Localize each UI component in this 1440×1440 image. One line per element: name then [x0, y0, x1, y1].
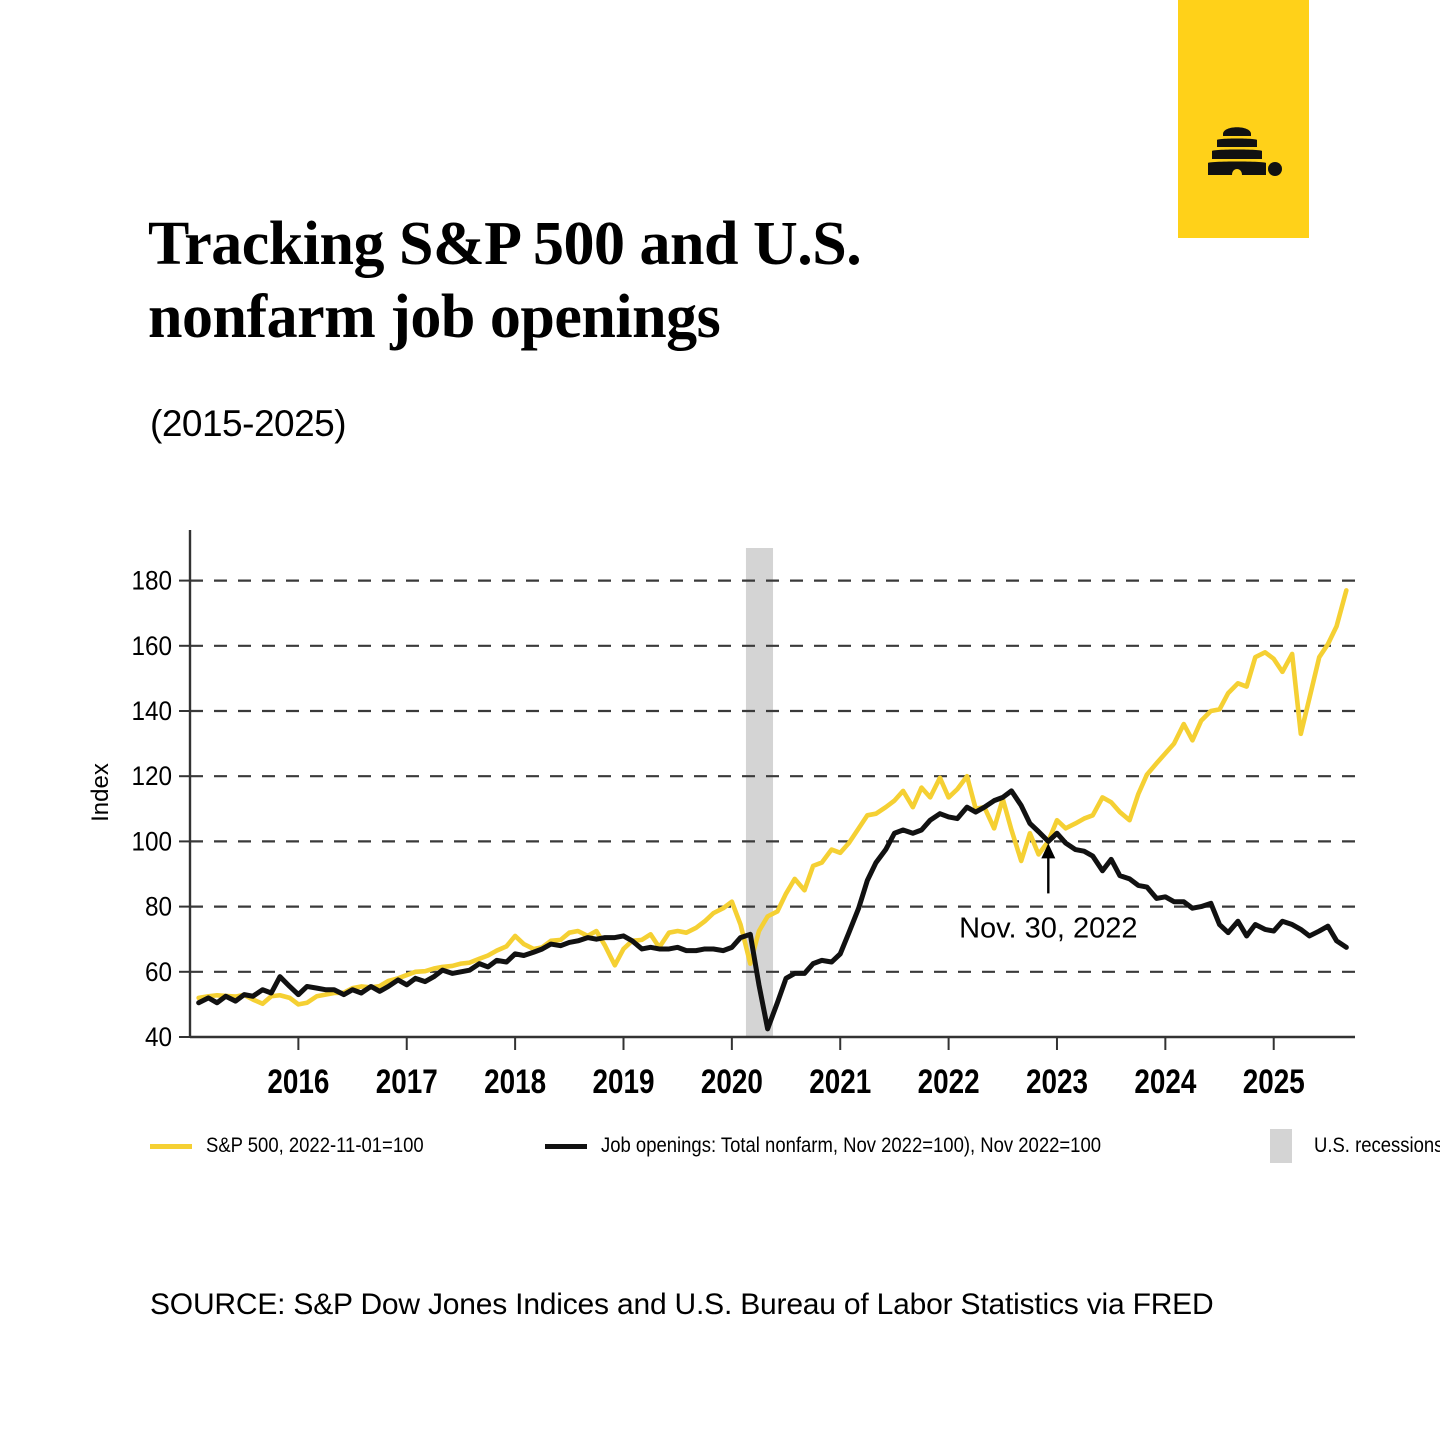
y-tick-label: 160	[131, 632, 172, 661]
y-axis-title: Index	[87, 763, 114, 822]
legend-item-recessions[interactable]: U.S. recessions	[1270, 1129, 1440, 1163]
legend-label-job-openings: Job openings: Total nonfarm, Nov 2022=10…	[601, 1134, 1101, 1158]
legend-label-sp500: S&P 500, 2022-11-01=100	[206, 1134, 424, 1158]
y-tick-label: 80	[145, 892, 172, 921]
x-tick-label: 2023	[1026, 1062, 1088, 1100]
annotation-label: Nov. 30, 2022	[959, 912, 1137, 944]
x-tick-label: 2019	[592, 1062, 654, 1100]
page-title-line-1: Tracking S&P 500 and U.S.	[148, 208, 1048, 281]
x-tick-label: 2017	[376, 1062, 438, 1100]
x-tick-label: 2020	[701, 1062, 763, 1100]
x-tick-label: 2022	[918, 1062, 980, 1100]
x-tick-label: 2021	[809, 1062, 871, 1100]
beehive-icon	[1206, 120, 1282, 182]
legend-item-sp500[interactable]: S&P 500, 2022-11-01=100	[150, 1134, 453, 1158]
line-chart: 406080100120140160180Index20162017201820…	[0, 520, 1440, 1120]
legend-swatch-job-openings-line	[545, 1144, 587, 1149]
source-note: SOURCE: S&P Dow Jones Indices and U.S. B…	[150, 1288, 1213, 1322]
y-tick-label: 100	[131, 827, 172, 856]
page-title: Tracking S&P 500 and U.S. nonfarm job op…	[148, 208, 1048, 354]
page-title-line-2: nonfarm job openings	[148, 281, 1048, 354]
y-tick-label: 140	[131, 697, 172, 726]
legend-item-job-openings[interactable]: Job openings: Total nonfarm, Nov 2022=10…	[545, 1134, 1169, 1158]
x-tick-label: 2016	[267, 1062, 329, 1100]
y-tick-label: 120	[131, 762, 172, 791]
x-tick-label: 2025	[1243, 1062, 1305, 1100]
y-tick-label: 180	[131, 566, 172, 595]
x-tick-label: 2024	[1134, 1062, 1197, 1100]
y-tick-label: 60	[145, 958, 172, 987]
legend-swatch-recession-box	[1270, 1129, 1292, 1163]
page-subtitle: (2015-2025)	[150, 403, 346, 445]
brand-logo-block	[1178, 0, 1309, 238]
y-tick-label: 40	[145, 1023, 172, 1052]
legend-label-recessions: U.S. recessions	[1314, 1134, 1440, 1158]
chart-container: 406080100120140160180Index20162017201820…	[0, 520, 1440, 1120]
legend-swatch-sp500-line	[150, 1144, 192, 1149]
x-tick-label: 2018	[484, 1062, 546, 1100]
chart-legend: S&P 500, 2022-11-01=100 Job openings: To…	[142, 1124, 1322, 1168]
